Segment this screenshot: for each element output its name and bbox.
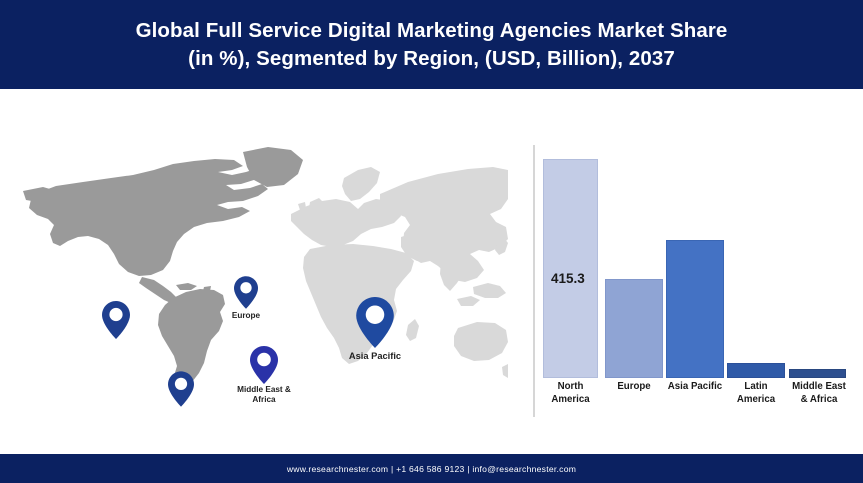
bar-column-latin-america[interactable] <box>727 145 785 378</box>
location-pin-icon <box>356 297 394 348</box>
page-title-line-1: Global Full Service Digital Marketing Ag… <box>136 17 728 45</box>
infographic-root: Global Full Service Digital Marketing Ag… <box>0 0 863 483</box>
location-pin-icon <box>250 346 278 384</box>
landmass-greenland <box>243 147 303 187</box>
chart-category-label-latin-america: Latin America <box>727 381 785 406</box>
chart-category-label-asia-pacific-line1: Asia Pacific <box>663 381 727 394</box>
chart-category-label-north-america-line1: North <box>543 381 598 394</box>
map-pin-asia-pacific[interactable] <box>356 297 394 348</box>
landmass-southeast-asia <box>457 283 506 306</box>
map-pin-label-latin-america: Latin America <box>165 409 197 429</box>
map-pin-middle-east-africa[interactable] <box>250 346 278 384</box>
map-pin-europe[interactable] <box>234 276 258 309</box>
bar-north-america[interactable] <box>543 159 598 378</box>
chart-category-label-latin-america-line1: Latin <box>727 381 785 394</box>
landmass-scandinavia <box>342 167 380 201</box>
bar-latin-america[interactable] <box>727 363 785 378</box>
world-map-panel: North America Europe Lat <box>0 89 512 454</box>
bar-column-north-america[interactable] <box>543 145 598 378</box>
bar-column-europe[interactable] <box>605 145 663 378</box>
content-area: North America Europe Lat <box>0 89 863 454</box>
chart-category-label-middle-east-africa: Middle East & Africa <box>785 381 853 406</box>
landmass-new-zealand <box>502 364 508 378</box>
landmass-australia <box>454 322 508 361</box>
landmass-north-america <box>29 159 268 276</box>
header-banner: Global Full Service Digital Marketing Ag… <box>0 0 863 89</box>
landmass-madagascar <box>406 319 419 341</box>
chart-category-label-latin-america-line2: America <box>727 394 785 407</box>
page-title-line-2: (in %), Segmented by Region, (USD, Billi… <box>188 45 675 73</box>
chart-category-label-asia-pacific: Asia Pacific <box>663 381 727 394</box>
chart-category-label-middle-east-africa-line2: & Africa <box>785 394 853 407</box>
map-pin-label-latin-america-line1: Latin <box>165 409 197 419</box>
bar-value-north-america: 415.3 <box>551 271 585 286</box>
bar-chart-panel: 415.3 <box>512 89 863 454</box>
footer-banner: www.researchnester.com | +1 646 586 9123… <box>0 454 863 483</box>
bar-asia-pacific[interactable] <box>666 240 724 378</box>
map-pin-north-america[interactable] <box>102 301 130 339</box>
map-pin-label-latin-america-line2: America <box>165 419 197 429</box>
bar-chart: 415.3 <box>533 145 853 435</box>
bar-middle-east-africa[interactable] <box>789 369 846 378</box>
chart-y-axis-line <box>533 145 535 417</box>
bar-column-middle-east-africa[interactable] <box>789 145 846 378</box>
chart-category-label-europe: Europe <box>605 381 663 394</box>
location-pin-icon <box>168 371 194 407</box>
chart-category-label-europe-line1: Europe <box>605 381 663 394</box>
bar-column-asia-pacific[interactable] <box>666 145 724 378</box>
location-pin-icon <box>234 276 258 309</box>
chart-category-label-middle-east-africa-line1: Middle East <box>785 381 853 394</box>
location-pin-icon <box>102 301 130 339</box>
bar-europe[interactable] <box>605 279 663 378</box>
chart-category-labels: North America Europe Asia Pacific Latin … <box>543 381 853 427</box>
chart-category-label-north-america-line2: America <box>543 394 598 407</box>
landmass-india <box>440 257 466 291</box>
map-pin-latin-america[interactable] <box>168 371 194 407</box>
chart-plot-area: 415.3 <box>543 145 853 378</box>
chart-category-label-north-america: North America <box>543 381 598 406</box>
footer-contact-text: www.researchnester.com | +1 646 586 9123… <box>287 464 576 474</box>
